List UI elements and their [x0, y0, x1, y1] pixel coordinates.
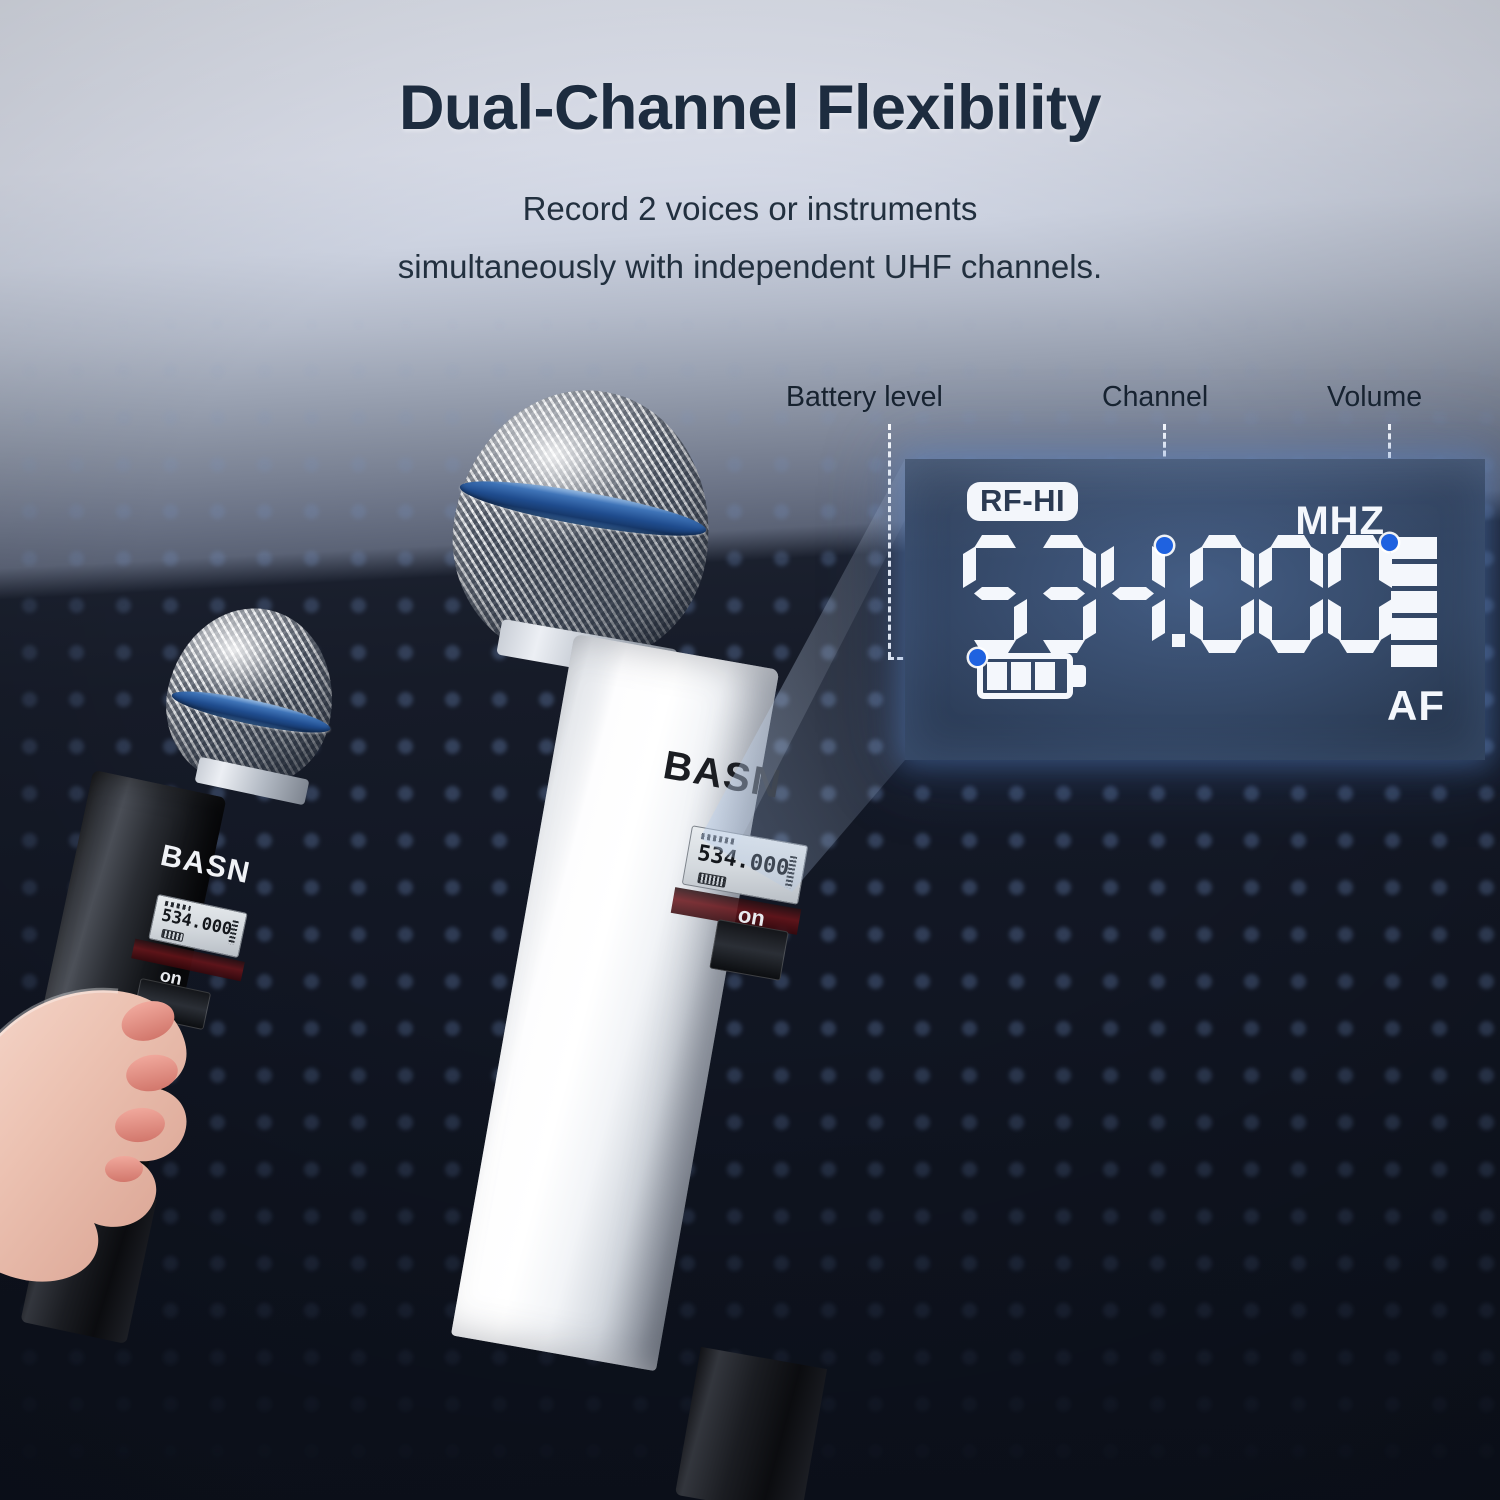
volume-segment-2: [1391, 564, 1437, 586]
af-label: AF: [1387, 685, 1445, 727]
black-mic-display-battery: [161, 929, 184, 942]
callout-dot-volume: [1381, 534, 1398, 551]
digit-0-a: [1190, 535, 1254, 653]
white-mic-base: [675, 1347, 827, 1500]
callout-label-volume: Volume: [1327, 381, 1422, 414]
callout-label-channel: Channel: [1102, 381, 1208, 414]
digit-0-b: [1259, 535, 1323, 653]
battery-terminal: [1072, 665, 1086, 687]
callout-dot-battery: [969, 649, 986, 666]
frequency-unit-label: MHZ: [1295, 501, 1385, 541]
battery-bar-2: [1011, 662, 1031, 690]
leader-line-battery-vertical: [888, 424, 891, 658]
rf-hi-badge: RF-HI: [967, 482, 1078, 521]
subtitle-line-2: simultaneously with independent UHF chan…: [0, 250, 1500, 283]
hand-holding-microphone: [0, 955, 330, 1315]
lcd-zoom-panel: RF-HI: [905, 459, 1485, 760]
digit-3: [1032, 535, 1096, 653]
page-title: Dual-Channel Flexibility: [0, 72, 1500, 144]
callout-dot-channel: [1156, 537, 1173, 554]
subtitle-line-1: Record 2 voices or instruments: [0, 192, 1500, 225]
battery-bar-1: [987, 662, 1007, 690]
infographic-stage: Dual-Channel Flexibility Record 2 voices…: [0, 0, 1500, 1500]
digit-5: [963, 535, 1027, 653]
callout-label-battery: Battery level: [786, 381, 943, 414]
white-mic-display-battery: [697, 872, 726, 888]
battery-indicator: [977, 653, 1086, 699]
digit-0-c: [1328, 535, 1392, 653]
volume-segment-5: [1391, 645, 1437, 667]
frequency-digits: [963, 535, 1397, 653]
volume-segment-3: [1391, 591, 1437, 613]
battery-bars: [987, 662, 1055, 690]
battery-bar-3: [1035, 662, 1055, 690]
digit-4: [1101, 535, 1165, 653]
volume-segment-4: [1391, 618, 1437, 640]
volume-meter: [1391, 537, 1437, 672]
decimal-point: [1170, 535, 1190, 653]
